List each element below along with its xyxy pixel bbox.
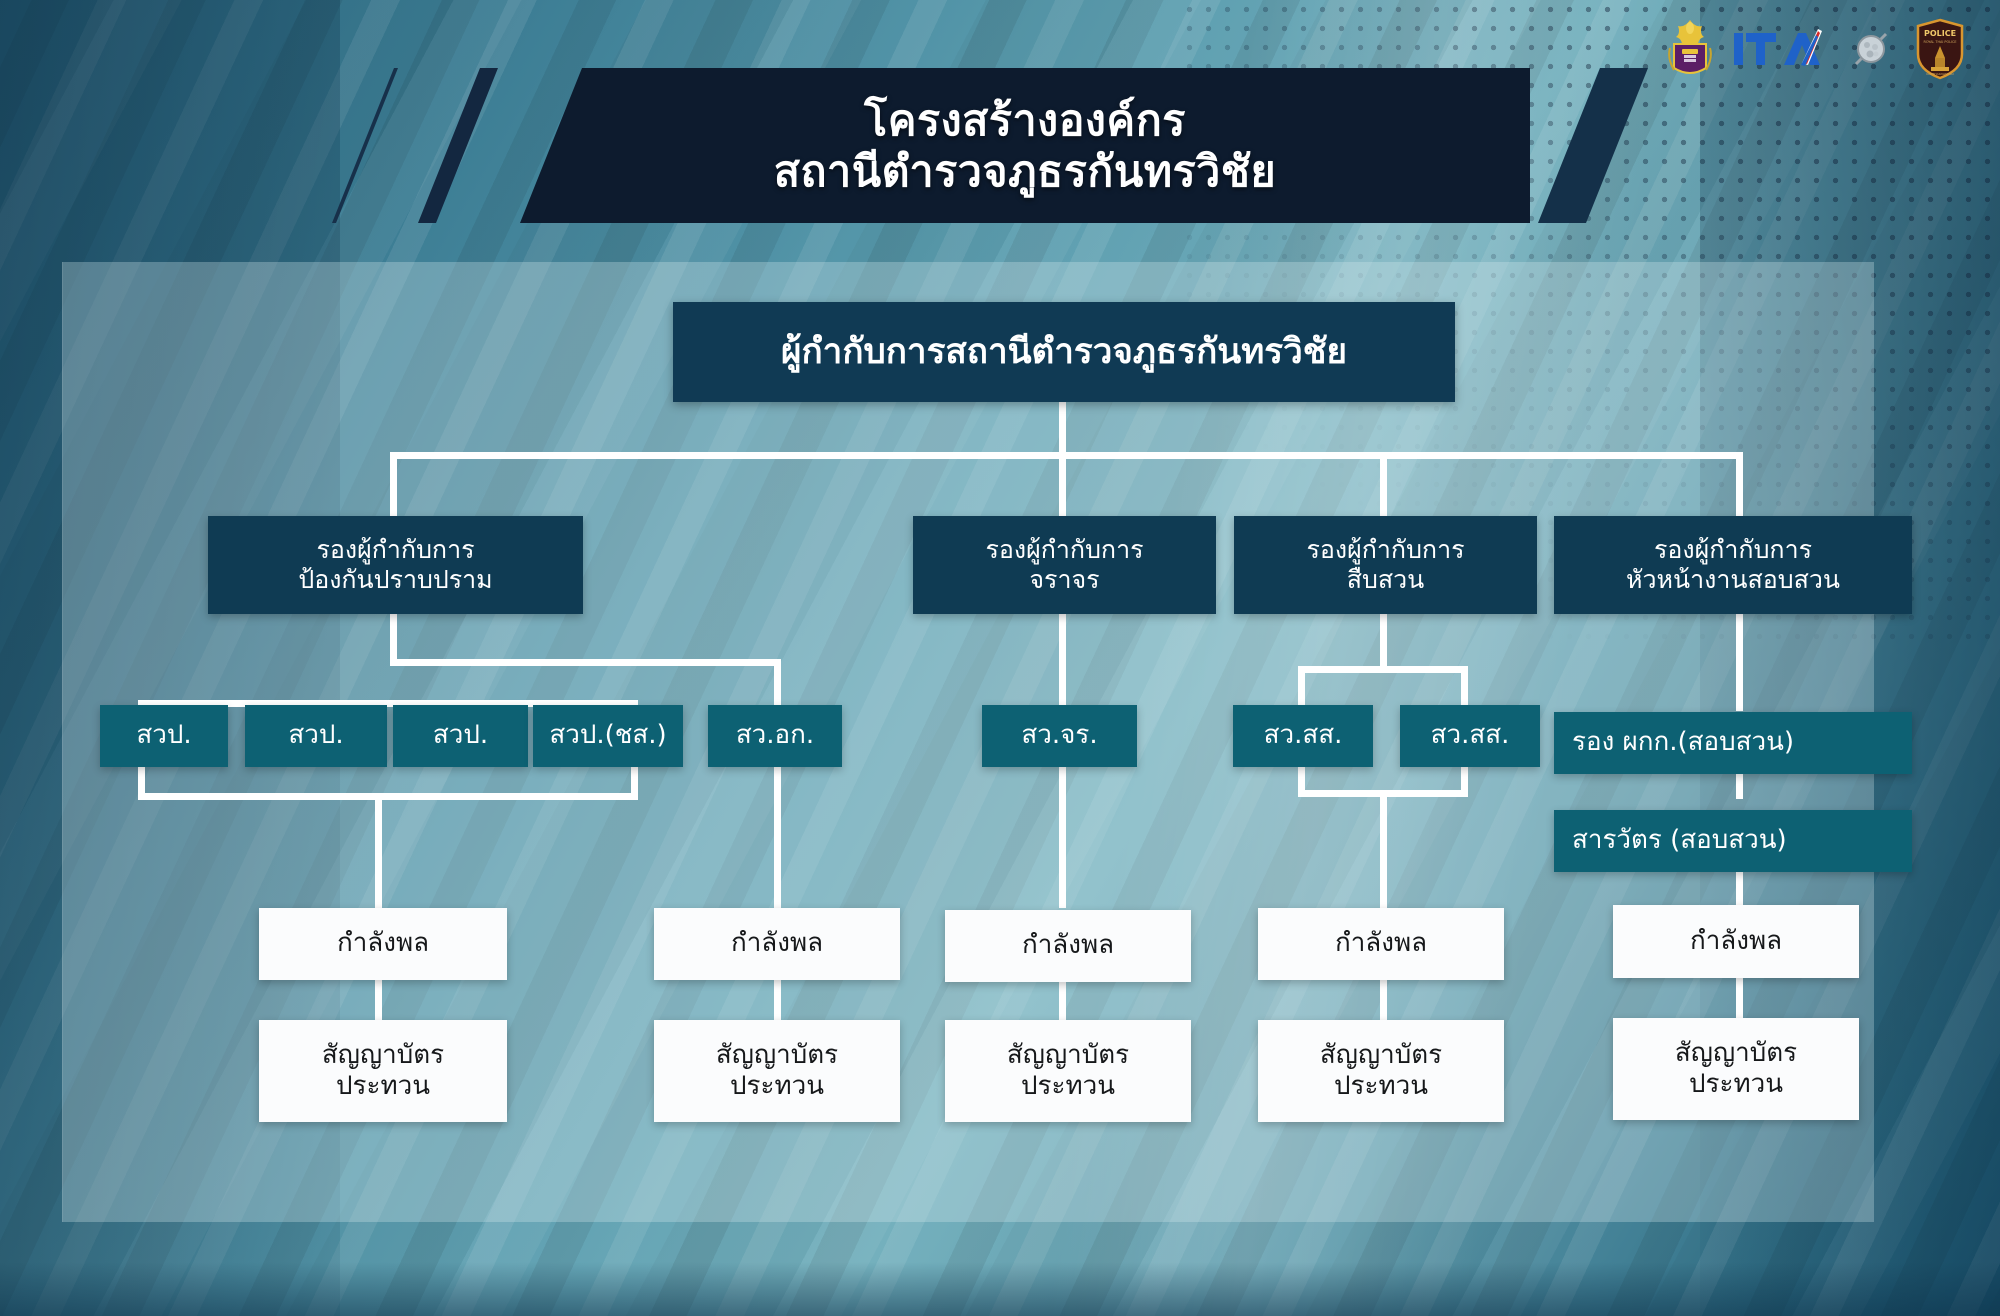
org-chart: ผู้กำกับการสถานีตำรวจภูธรกันทรวิชัย รองผ…: [0, 0, 2000, 1316]
connector-prevention-bus: [390, 659, 781, 666]
connector-root-bus: [390, 452, 1743, 459]
node-unit-admin[interactable]: สว.อก.: [708, 705, 842, 767]
connector-investigation-bus-top: [1298, 666, 1468, 673]
connector-inquiry-stem: [1736, 613, 1743, 711]
node-unit-sawopo-3-label: สวป.: [433, 720, 488, 751]
connector-prevention-stem: [390, 613, 397, 662]
connector-investigation-to-leaf: [1380, 790, 1387, 908]
node-personnel-traffic[interactable]: กำลังพล: [945, 910, 1191, 982]
node-deputy-traffic-line1: รองผู้กำกับการ: [985, 535, 1143, 565]
node-deputy-traffic-line2: จราจร: [1029, 565, 1099, 595]
node-deputy-prevention-line1: รองผู้กำกับการ: [316, 535, 474, 565]
node-unit-sawopo-1-label: สวป.: [136, 720, 191, 751]
node-rank-admin-line1: สัญญาบัตร: [716, 1040, 838, 1071]
slide-canvas: โครงสร้างองค์กร สถานีตำรวจภูธรกันทรวิชัย: [0, 0, 2000, 1316]
node-deputy-investigation-line2: สืบสวน: [1347, 565, 1425, 595]
connector-drop-investigation: [1380, 452, 1387, 518]
connector-prevention-units-bottom: [138, 793, 638, 800]
node-superintendent-label: ผู้กำกับการสถานีตำรวจภูธรกันทรวิชัย: [781, 331, 1347, 373]
node-personnel-traffic-label: กำลังพล: [1022, 930, 1114, 961]
node-unit-deputy-inquiry[interactable]: รอง ผกก.(สอบสวน): [1554, 712, 1912, 774]
node-rank-prevention-line1: สัญญาบัตร: [322, 1040, 444, 1071]
node-rank-prevention[interactable]: สัญญาบัตร ประทวน: [259, 1020, 507, 1122]
node-deputy-investigation-line1: รองผู้กำกับการ: [1306, 535, 1464, 565]
node-unit-traffic-label: สว.จร.: [1021, 720, 1097, 751]
node-unit-investigation-1-label: สว.สส.: [1264, 720, 1343, 751]
connector-leaf-5: [1736, 978, 1743, 1018]
node-unit-sawopo-chor-sor-label: สวป.(ชส.): [549, 720, 666, 751]
node-deputy-prevention[interactable]: รองผู้กำกับการ ป้องกันปราบปราม: [208, 516, 583, 614]
node-rank-traffic-line1: สัญญาบัตร: [1007, 1040, 1129, 1071]
node-rank-traffic[interactable]: สัญญาบัตร ประทวน: [945, 1020, 1191, 1122]
node-superintendent[interactable]: ผู้กำกับการสถานีตำรวจภูธรกันทรวิชัย: [673, 302, 1455, 402]
node-personnel-admin[interactable]: กำลังพล: [654, 908, 900, 980]
connector-drop-prevention: [390, 452, 397, 518]
node-rank-investigation-line1: สัญญาบัตร: [1320, 1040, 1442, 1071]
connector-investigation-stem: [1380, 613, 1387, 669]
node-rank-inquiry-line1: สัญญาบัตร: [1675, 1038, 1797, 1069]
node-unit-investigation-1[interactable]: สว.สส.: [1233, 705, 1373, 767]
node-deputy-inquiry[interactable]: รองผู้กำกับการ หัวหน้างานสอบสวน: [1554, 516, 1912, 614]
node-rank-admin-line2: ประทวน: [730, 1071, 824, 1102]
node-personnel-prevention-label: กำลังพล: [337, 928, 429, 959]
node-deputy-inquiry-line1: รองผู้กำกับการ: [1654, 535, 1812, 565]
connector-drop-admin-unit: [774, 659, 781, 711]
node-personnel-investigation-label: กำลังพล: [1335, 928, 1427, 959]
node-unit-investigation-2[interactable]: สว.สส.: [1400, 705, 1540, 767]
node-unit-sawopo-chor-sor[interactable]: สวป.(ชส.): [533, 705, 683, 767]
node-deputy-traffic[interactable]: รองผู้กำกับการ จราจร: [913, 516, 1216, 614]
connector-leaf-4: [1380, 980, 1387, 1020]
connector-traffic-to-leaf: [1059, 767, 1066, 908]
node-unit-inspector-inquiry[interactable]: สารวัตร (สอบสวน): [1554, 810, 1912, 872]
connector-admin-to-leaf: [774, 767, 781, 908]
node-deputy-inquiry-line2: หัวหน้างานสอบสวน: [1626, 565, 1840, 595]
node-personnel-inquiry[interactable]: กำลังพล: [1613, 905, 1859, 978]
node-rank-inquiry-line2: ประทวน: [1689, 1069, 1783, 1100]
connector-leaf-3: [1059, 980, 1066, 1020]
node-unit-deputy-inquiry-label: รอง ผกก.(สอบสวน): [1572, 727, 1794, 758]
node-personnel-inquiry-label: กำลังพล: [1690, 926, 1782, 957]
connector-traffic-stem: [1059, 613, 1066, 711]
node-unit-sawopo-2[interactable]: สวป.: [245, 705, 387, 767]
node-deputy-investigation[interactable]: รองผู้กำกับการ สืบสวน: [1234, 516, 1537, 614]
connector-drop-inquiry: [1736, 452, 1743, 518]
connector-inquiry-to-leaf: [1736, 867, 1743, 909]
node-unit-admin-label: สว.อก.: [736, 720, 814, 751]
node-rank-traffic-line2: ประทวน: [1021, 1071, 1115, 1102]
node-unit-traffic[interactable]: สว.จร.: [982, 705, 1137, 767]
connector-root-stem: [1059, 400, 1066, 455]
connector-prevention-to-leaf: [375, 793, 382, 908]
node-unit-sawopo-3[interactable]: สวป.: [393, 705, 528, 767]
node-rank-investigation-line2: ประทวน: [1334, 1071, 1428, 1102]
node-rank-admin[interactable]: สัญญาบัตร ประทวน: [654, 1020, 900, 1122]
node-personnel-investigation[interactable]: กำลังพล: [1258, 908, 1504, 980]
node-unit-inspector-inquiry-label: สารวัตร (สอบสวน): [1572, 825, 1787, 856]
connector-leaf-1: [375, 980, 382, 1020]
node-personnel-prevention[interactable]: กำลังพล: [259, 908, 507, 980]
node-unit-sawopo-2-label: สวป.: [288, 720, 343, 751]
node-rank-prevention-line2: ประทวน: [336, 1071, 430, 1102]
node-rank-investigation[interactable]: สัญญาบัตร ประทวน: [1258, 1020, 1504, 1122]
node-personnel-admin-label: กำลังพล: [731, 928, 823, 959]
node-unit-sawopo-1[interactable]: สวป.: [100, 705, 228, 767]
node-unit-investigation-2-label: สว.สส.: [1431, 720, 1510, 751]
connector-leaf-2: [774, 980, 781, 1020]
node-deputy-prevention-line2: ป้องกันปราบปราม: [298, 565, 492, 595]
connector-drop-traffic: [1059, 452, 1066, 518]
node-rank-inquiry[interactable]: สัญญาบัตร ประทวน: [1613, 1018, 1859, 1120]
